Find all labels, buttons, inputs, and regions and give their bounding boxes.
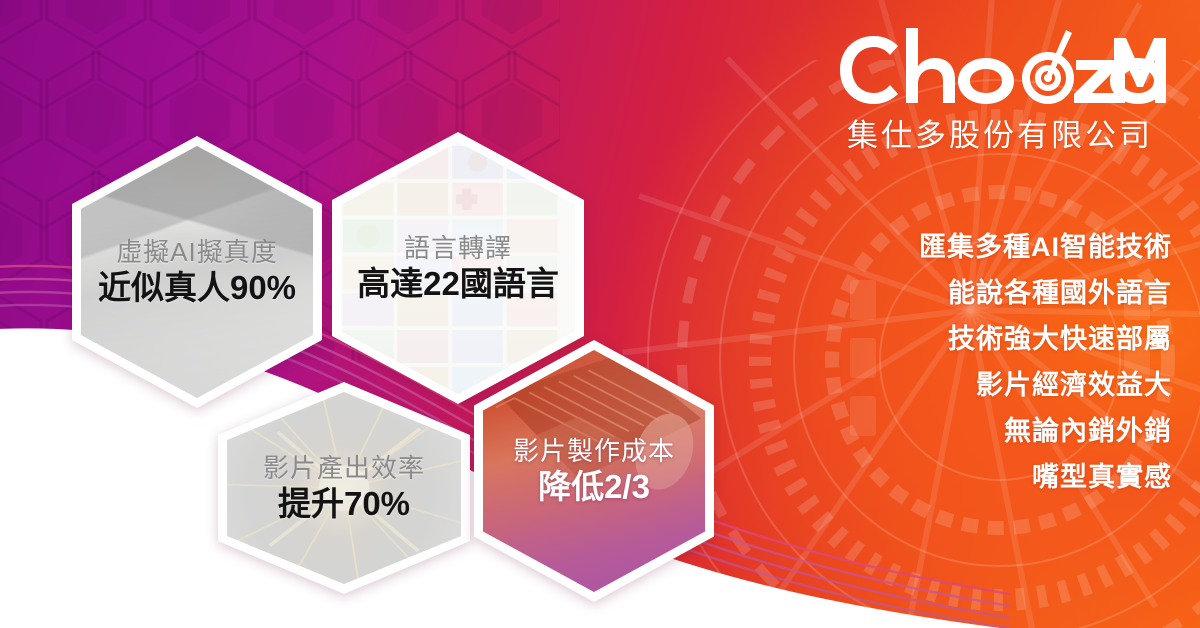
feature-item: 技術強大快速部屬 bbox=[948, 326, 1172, 353]
hexagon-title: 語言轉譯 bbox=[347, 235, 569, 262]
hexagon-text: 影片製作成本 降低2/3 bbox=[483, 438, 705, 505]
hexagon-frame: 影片產出效率 提升70% bbox=[218, 382, 470, 594]
feature-item: 影片經濟效益大 bbox=[976, 372, 1172, 399]
choozmo-logo bbox=[830, 22, 1170, 114]
feature-list: 匯集多種AI智能技術 能說各種國外語言 技術強大快速部屬 影片經濟效益大 無論內… bbox=[832, 234, 1172, 491]
hexagon-value: 高達22國語言 bbox=[347, 267, 569, 302]
hexagon-title: 影片產出效率 bbox=[233, 455, 455, 482]
hexagon-title: 影片製作成本 bbox=[489, 438, 699, 465]
hexagon-content: 影片製作成本 降低2/3 bbox=[483, 350, 705, 592]
feature-item: 匯集多種AI智能技術 bbox=[919, 234, 1172, 261]
stat-hexagon-ai-realism[interactable]: 虛擬AI擬真度 近似真人90% bbox=[72, 136, 322, 408]
feature-item: 嘴型真實感 bbox=[1032, 464, 1172, 491]
stat-hexagon-production-cost[interactable]: 影片製作成本 降低2/3 bbox=[474, 340, 714, 602]
hexagon-text: 虛擬AI擬真度 近似真人90% bbox=[81, 239, 313, 306]
feature-item: 無論內銷外銷 bbox=[1004, 418, 1172, 445]
hexagon-content: 影片產出效率 提升70% bbox=[227, 392, 461, 584]
hexagon-value: 降低2/3 bbox=[489, 470, 699, 505]
hexagon-value: 提升70% bbox=[233, 487, 455, 522]
hexagon-text: 影片產出效率 提升70% bbox=[227, 455, 461, 522]
banner-canvas: 虛擬AI擬真度 近似真人90% bbox=[0, 0, 1200, 628]
stat-hexagon-video-efficiency[interactable]: 影片產出效率 提升70% bbox=[218, 382, 470, 594]
hexagon-frame: 影片製作成本 降低2/3 bbox=[474, 340, 714, 602]
hexagon-text: 語言轉譯 高達22國語言 bbox=[341, 235, 575, 302]
hexagon-value: 近似真人90% bbox=[87, 271, 307, 306]
company-name: 集仕多股份有限公司 bbox=[847, 120, 1153, 151]
brand-logo-block: 集仕多股份有限公司 bbox=[820, 22, 1180, 182]
feature-item: 能說各種國外語言 bbox=[948, 280, 1172, 307]
hexagon-title: 虛擬AI擬真度 bbox=[87, 239, 307, 266]
hexagon-content: 虛擬AI擬真度 近似真人90% bbox=[81, 146, 313, 398]
hexagon-frame: 虛擬AI擬真度 近似真人90% bbox=[72, 136, 322, 408]
